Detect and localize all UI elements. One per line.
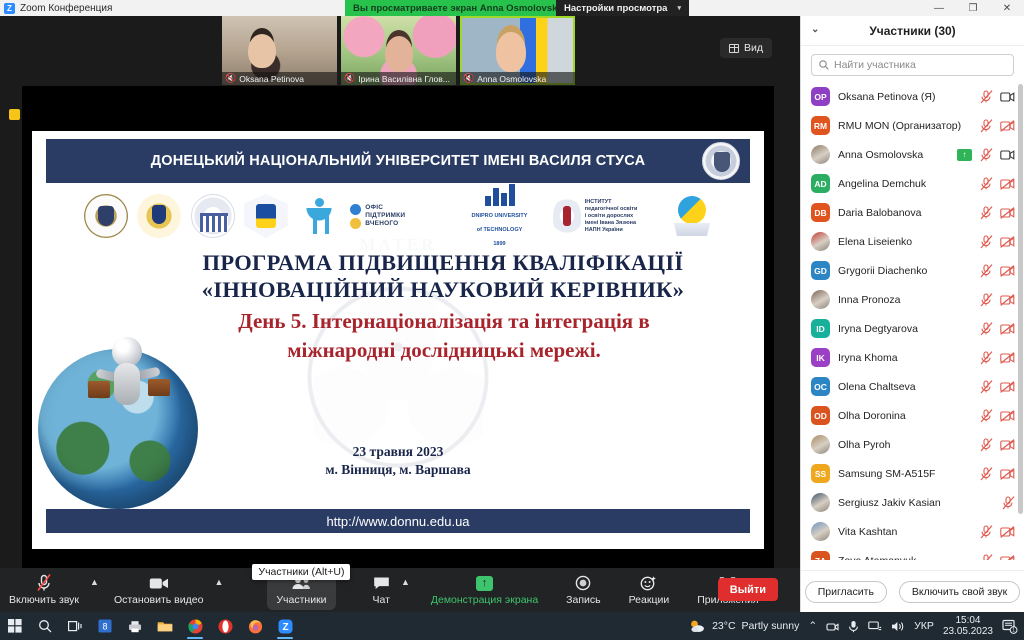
- avatar-initials: IK: [811, 348, 830, 367]
- avatar-photo: [811, 145, 830, 164]
- search-icon[interactable]: [30, 612, 60, 640]
- participant-status-icons: [980, 90, 1015, 104]
- polytechnic-icon: [191, 194, 235, 238]
- screen-share-notice: Вы просматриваете экран Anna Osmolovska: [345, 0, 571, 16]
- share-screen-icon: ↑: [476, 574, 493, 592]
- avatar-initials: RM: [811, 116, 830, 135]
- taskbar-clock[interactable]: 15:04 23.05.2023: [943, 615, 993, 637]
- participant-name: Elena Liseienko: [838, 236, 972, 248]
- toolbar-reactions-label: Реакции: [629, 594, 670, 606]
- toolbar-audio-label: Включить звук: [9, 594, 79, 606]
- shield-emblem-icon: [244, 194, 288, 238]
- slide-date: 23 травня 2023: [32, 443, 764, 461]
- camera-off-icon: [1000, 555, 1015, 561]
- participant-status-icons: [980, 380, 1015, 394]
- avatar-photo: [811, 435, 830, 454]
- mic-muted-icon: 🔇: [344, 74, 355, 83]
- participant-row[interactable]: IKIryna Khoma: [801, 343, 1024, 372]
- video-thumbnail[interactable]: 🔇 Oksana Petinova: [222, 16, 337, 85]
- mic-muted-icon: [980, 119, 993, 133]
- camera-icon: [1000, 149, 1015, 161]
- toolbar-share-screen-label: Демонстрация экрана: [431, 594, 538, 606]
- participant-row[interactable]: OPOksana Petinova (Я): [801, 82, 1024, 111]
- camera-off-icon: [1000, 468, 1015, 480]
- maximize-button[interactable]: ❐: [956, 0, 990, 16]
- webcam-tray-icon[interactable]: [826, 620, 839, 633]
- video-thumbnail[interactable]: 🔇 Ірина Василівна Глов...: [341, 16, 456, 85]
- institute-text: ІНСТИТУТпедагогічної освітиі освіти доро…: [585, 199, 638, 234]
- participant-status-icons: [980, 322, 1015, 336]
- avatar-photo: [811, 493, 830, 512]
- donnu-seal-icon: [84, 194, 128, 238]
- dnipro-bars-icon: [456, 184, 544, 206]
- zoom-logo-icon: Z: [4, 3, 15, 14]
- avatar-initials: ZA: [811, 551, 830, 560]
- avatar-initials: GD: [811, 261, 830, 280]
- invite-button[interactable]: Пригласить: [805, 581, 887, 603]
- mic-muted-icon: [980, 554, 993, 561]
- participant-name: Vita Kashtan: [838, 526, 972, 538]
- camera-off-icon: [1000, 410, 1015, 422]
- svg-text:Z: Z: [282, 622, 288, 633]
- participant-row[interactable]: Sergiusz Jakiv Kasian: [801, 488, 1024, 517]
- screen-root: Z Zoom Конференция Вы просматриваете экр…: [0, 0, 1024, 640]
- toolbar-participants-label: Участники: [276, 594, 326, 606]
- participants-search-wrap: Найти участника: [801, 46, 1024, 82]
- opera-icon[interactable]: [210, 612, 240, 640]
- participant-name: Daria Balobanova: [838, 207, 972, 219]
- mic-muted-icon: [980, 293, 993, 307]
- participant-status-icons: [980, 467, 1015, 481]
- participant-status-icons: [980, 293, 1015, 307]
- task-view-icon[interactable]: [60, 612, 90, 640]
- minimize-button[interactable]: —: [922, 0, 956, 16]
- zoom-title-bar: Z Zoom Конференция Вы просматриваете экр…: [0, 0, 1024, 16]
- participant-status-icons: [980, 438, 1015, 452]
- slide-title-line-2: «ІННОВАЦІЙНИЙ НАУКОВИЙ КЕРІВНИК»: [152, 276, 734, 303]
- participant-name: Sergiusz Jakiv Kasian: [838, 497, 994, 509]
- participant-row[interactable]: GDGrygorii Diachenko: [801, 256, 1024, 285]
- zoom-icon[interactable]: Z: [270, 612, 300, 640]
- participant-row[interactable]: RMRMU MON (Организатор): [801, 111, 1024, 140]
- svg-text:1: 1: [1012, 627, 1015, 633]
- participant-name: Olha Pyroh: [838, 439, 972, 451]
- mic-muted-icon: [980, 264, 993, 278]
- camera-off-icon: [1000, 352, 1015, 364]
- participant-name: Inna Pronoza: [838, 294, 972, 306]
- participant-status-icons: [980, 351, 1015, 365]
- participant-name: RMU MON (Организатор): [838, 120, 972, 132]
- participant-row[interactable]: Olha Pyroh: [801, 430, 1024, 459]
- printer-icon[interactable]: [120, 612, 150, 640]
- participants-panel: ⌄ Участники (30) Найти участника OPOksan…: [800, 16, 1024, 612]
- weather-temperature: 23°C: [712, 620, 735, 632]
- toolbar-reactions-button[interactable]: Реакции: [620, 568, 679, 612]
- camera-off-icon: [1000, 265, 1015, 277]
- mic-muted-icon: [980, 206, 993, 220]
- participants-scrollbar[interactable]: [1018, 84, 1023, 514]
- participant-name: Oksana Petinova (Я): [838, 91, 972, 103]
- toolbar-audio-button[interactable]: Включить звук: [0, 568, 88, 612]
- presentation-slide: ДОНЕЦЬКИЙ НАЦІОНАЛЬНИЙ УНІВЕРСИТЕТ ІМЕНІ…: [32, 131, 764, 549]
- mic-muted-icon: [980, 351, 993, 365]
- windows-taskbar: 8 Z 23°C Partl: [0, 612, 1024, 640]
- mic-muted-icon: [980, 90, 993, 104]
- reactions-icon: [640, 574, 657, 592]
- participant-row[interactable]: Anna Osmolovska↑: [801, 140, 1024, 169]
- tray-expand-icon[interactable]: ⌃: [808, 620, 817, 632]
- mic-muted-icon: [980, 322, 993, 336]
- avatar-initials: ID: [811, 319, 830, 338]
- participants-panel-footer: Пригласить Включить свой звук: [801, 570, 1024, 612]
- dnipro-university-text: DNIPRO UNIVERSITYof TECHNOLOGY1899: [472, 213, 528, 247]
- institute-emblem-icon: [553, 197, 581, 235]
- svg-text:8: 8: [102, 622, 107, 632]
- toolbar-chat-label: Чат: [373, 594, 390, 606]
- chrome-icon[interactable]: [180, 612, 210, 640]
- network-tray-icon[interactable]: [868, 620, 882, 633]
- slide-url-bar: http://www.donnu.edu.ua: [46, 509, 750, 533]
- globe-book-icon: [670, 194, 714, 238]
- participant-name: Iryna Degtyarova: [838, 323, 972, 335]
- participant-name: Olena Chaltseva: [838, 381, 972, 393]
- participant-status-icons: [980, 554, 1015, 561]
- shared-screen-canvas[interactable]: ДОНЕЦЬКИЙ НАЦІОНАЛЬНИЙ УНІВЕРСИТЕТ ІМЕНІ…: [22, 86, 774, 570]
- chat-icon: [373, 574, 390, 592]
- participant-status-icons: [980, 177, 1015, 191]
- camera-off-icon: [1000, 120, 1015, 132]
- record-icon: [575, 574, 591, 592]
- toolbar-record-label: Запись: [566, 594, 600, 606]
- participant-status-icons: [980, 206, 1015, 220]
- mic-muted-icon: [1002, 496, 1015, 510]
- mic-muted-icon: [36, 574, 52, 592]
- participant-row[interactable]: ZAZoya Atamanyuk: [801, 546, 1024, 560]
- weather-widget[interactable]: 23°C Partly sunny: [689, 619, 799, 633]
- office-dots-icon: [350, 204, 361, 229]
- participants-panel-title: Участники (30): [869, 24, 955, 38]
- toolbar-share-screen-button[interactable]: ↑ Демонстрация экрана: [422, 568, 547, 612]
- participant-name: Zoya Atamanyuk: [838, 555, 972, 561]
- thumbnail-participant-name: Anna Osmolovska: [477, 74, 546, 84]
- view-settings-label: Настройки просмотра: [564, 3, 667, 14]
- camera-off-icon: [1000, 178, 1015, 190]
- volume-tray-icon[interactable]: [891, 620, 905, 633]
- widgets-icon[interactable]: 8: [90, 612, 120, 640]
- thumbnail-participant-name: Oksana Petinova: [239, 74, 304, 84]
- system-tray: 23°C Partly sunny ⌃ УКР 15:04 23.05.2023…: [689, 615, 1024, 637]
- slide-subtitle: День 5. Інтернаціоналізація та інтеграці…: [152, 307, 736, 365]
- participant-name: Iryna Khoma: [838, 352, 972, 364]
- participant-row[interactable]: OCOlena Chaltseva: [801, 372, 1024, 401]
- thumbnail-name-bar: 🔇 Anna Osmolovska: [460, 72, 575, 85]
- participant-row[interactable]: Vita Kashtan: [801, 517, 1024, 546]
- thumbnail-name-bar: 🔇 Oksana Petinova: [222, 72, 337, 85]
- start-icon[interactable]: [0, 612, 30, 640]
- chevron-down-icon: ▾: [677, 4, 681, 12]
- mic-muted-icon: [980, 235, 993, 249]
- video-thumbnail-strip: 🔇 Oksana Petinova 🔇 Ірина Василівна Глов…: [222, 16, 575, 86]
- participants-search-placeholder: Найти участника: [834, 59, 916, 71]
- meeting-area: 🔇 Oksana Petinova 🔇 Ірина Василівна Глов…: [0, 16, 800, 640]
- notifications-icon[interactable]: 1: [1002, 619, 1018, 634]
- avatar-initials: OD: [811, 406, 830, 425]
- businessman-figure-icon: [96, 337, 160, 423]
- partly-sunny-icon: [689, 619, 706, 633]
- slide-subtitle-line-1: День 5. Інтернаціоналізація та інтеграці…: [152, 307, 736, 336]
- mic-muted-icon: [980, 438, 993, 452]
- participant-row[interactable]: Inna Pronoza: [801, 285, 1024, 314]
- slide-place: м. Вінниця, м. Варшава: [32, 461, 764, 479]
- slide-header-bar: ДОНЕЦЬКИЙ НАЦІОНАЛЬНИЙ УНІВЕРСИТЕТ ІМЕНІ…: [46, 139, 750, 183]
- toolbar-record-button[interactable]: Запись: [557, 568, 609, 612]
- video-options-chevron-icon[interactable]: ▲: [212, 568, 229, 612]
- participant-row[interactable]: ODOlha Doronina: [801, 401, 1024, 430]
- participants-list[interactable]: OPOksana Petinova (Я)RMRMU MON (Организа…: [801, 82, 1024, 560]
- mic-muted-icon: [980, 380, 993, 394]
- participant-status-icons: [980, 409, 1015, 423]
- thumbnail-participant-name: Ірина Василівна Глов...: [358, 74, 450, 84]
- slide-title-line-1: ПРОГРАМА ПІДВИЩЕННЯ КВАЛІФІКАЦІЇ: [152, 249, 734, 276]
- avatar-initials: AD: [811, 174, 830, 193]
- microphone-tray-icon[interactable]: [848, 620, 859, 633]
- toolbar-participants-button[interactable]: Участники (Alt+U) Участники: [267, 570, 335, 610]
- mic-muted-icon: [980, 177, 993, 191]
- innovation-university-icon: [297, 194, 341, 238]
- mic-muted-icon: [980, 525, 993, 539]
- camera-off-icon: [1000, 439, 1015, 451]
- close-button[interactable]: ✕: [990, 0, 1024, 16]
- avatar-photo: [811, 290, 830, 309]
- slide-date-block: 23 травня 2023 м. Вінниця, м. Варшава: [32, 443, 764, 479]
- language-indicator[interactable]: УКР: [914, 620, 934, 632]
- camera-icon: [1000, 91, 1015, 103]
- participant-name: Samsung SM-A515F: [838, 468, 972, 480]
- camera-off-icon: [1000, 236, 1015, 248]
- thumbnail-name-bar: 🔇 Ірина Василівна Глов...: [341, 72, 456, 85]
- office-support-text: ОФІСПІДТРИМКИВЧЕНОГО: [365, 204, 405, 228]
- audio-options-chevron-icon[interactable]: ▲: [88, 568, 105, 612]
- participant-status-icons: [980, 235, 1015, 249]
- participant-row[interactable]: ADAngelina Demchuk: [801, 169, 1024, 198]
- participant-status-icons: [980, 119, 1015, 133]
- collapse-panel-icon[interactable]: ⌄: [811, 24, 819, 35]
- clock-time: 15:04: [943, 615, 993, 626]
- mic-muted-icon: [980, 467, 993, 481]
- participant-status-icons: ↑: [957, 148, 1015, 162]
- file-explorer-icon[interactable]: [150, 612, 180, 640]
- mic-muted-icon: 🔇: [463, 74, 474, 83]
- avatar-photo: [811, 232, 830, 251]
- camera-off-icon: [1000, 381, 1015, 393]
- zoom-toolbar: Включить звук ▲ Остановить видео ▲ Участ…: [0, 568, 800, 612]
- slide-subtitle-line-2: міжнародні дослідницькі мережі.: [152, 336, 736, 365]
- chat-options-chevron-icon[interactable]: ▲: [399, 568, 416, 612]
- slide-url: http://www.donnu.edu.ua: [326, 514, 469, 529]
- institute-logo: ІНСТИТУТпедагогічної освітиі освіти доро…: [553, 197, 661, 235]
- toolbar-video-label: Остановить видео: [114, 594, 203, 606]
- mic-muted-icon: [980, 409, 993, 423]
- participant-row[interactable]: DBDaria Balobanova: [801, 198, 1024, 227]
- leave-meeting-button[interactable]: Выйти: [718, 578, 778, 601]
- office-support-logo: ОФІСПІДТРИМКИВЧЕНОГО: [350, 204, 446, 229]
- firefox-icon[interactable]: [240, 612, 270, 640]
- mic-muted-icon: [980, 148, 993, 162]
- avatar-initials: SS: [811, 464, 830, 483]
- avatar-photo: [811, 522, 830, 541]
- search-icon: [819, 60, 829, 70]
- video-thumbnail-active-speaker[interactable]: 🔇 Anna Osmolovska: [460, 16, 575, 85]
- participant-row[interactable]: Elena Liseienko: [801, 227, 1024, 256]
- camera-off-icon: [1000, 323, 1015, 335]
- avatar-initials: OP: [811, 87, 830, 106]
- participants-search-input[interactable]: Найти участника: [811, 54, 1014, 76]
- toolbar-video-button[interactable]: Остановить видео: [105, 568, 212, 612]
- camera-off-icon: [1000, 294, 1015, 306]
- window-title: Zoom Конференция: [20, 3, 112, 14]
- participant-status-icons: [980, 525, 1015, 539]
- camera-off-icon: [1000, 526, 1015, 538]
- camera-off-icon: [1000, 207, 1015, 219]
- weather-description: Partly sunny: [742, 620, 800, 632]
- participant-name: Angelina Demchuk: [838, 178, 972, 190]
- view-button-label: Вид: [744, 42, 763, 54]
- participants-tooltip: Участники (Alt+U): [252, 564, 350, 580]
- clock-date: 23.05.2023: [943, 626, 993, 637]
- gold-emblem-icon: [137, 194, 181, 238]
- participant-status-icons: [1002, 496, 1015, 510]
- dnipro-university-logo: DNIPRO UNIVERSITYof TECHNOLOGY1899: [456, 184, 544, 248]
- participant-row[interactable]: SSSamsung SM-A515F: [801, 459, 1024, 488]
- grid-view-icon: [729, 44, 739, 53]
- view-button[interactable]: Вид: [720, 38, 772, 58]
- participant-name: Grygorii Diachenko: [838, 265, 972, 277]
- toolbar-chat-button[interactable]: Чат: [364, 568, 399, 612]
- slide-title: ПРОГРАМА ПІДВИЩЕННЯ КВАЛІФІКАЦІЇ «ІННОВА…: [152, 249, 734, 303]
- window-controls: — ❐ ✕: [922, 0, 1024, 16]
- participants-panel-header: ⌄ Участники (30): [801, 16, 1024, 46]
- sharing-badge-icon: ↑: [957, 149, 972, 161]
- university-name: ДОНЕЦЬКИЙ НАЦІОНАЛЬНИЙ УНІВЕРСИТЕТ ІМЕНІ…: [151, 153, 646, 169]
- participant-status-icons: [980, 264, 1015, 278]
- annotation-marker-icon: [9, 109, 20, 120]
- unmute-self-button[interactable]: Включить свой звук: [899, 581, 1020, 603]
- participant-row[interactable]: IDIryna Degtyarova: [801, 314, 1024, 343]
- partner-logos-row: ОФІСПІДТРИМКИВЧЕНОГО DNIPRO UNIVERSITYof…: [84, 193, 714, 239]
- participant-name: Anna Osmolovska: [838, 149, 949, 161]
- view-settings-button[interactable]: Настройки просмотра ▾: [556, 0, 689, 16]
- camera-icon: [149, 574, 169, 592]
- avatar-initials: DB: [811, 203, 830, 222]
- participant-name: Olha Doronina: [838, 410, 972, 422]
- university-crest-icon: [702, 142, 740, 180]
- avatar-initials: OC: [811, 377, 830, 396]
- mic-muted-icon: 🔇: [225, 74, 236, 83]
